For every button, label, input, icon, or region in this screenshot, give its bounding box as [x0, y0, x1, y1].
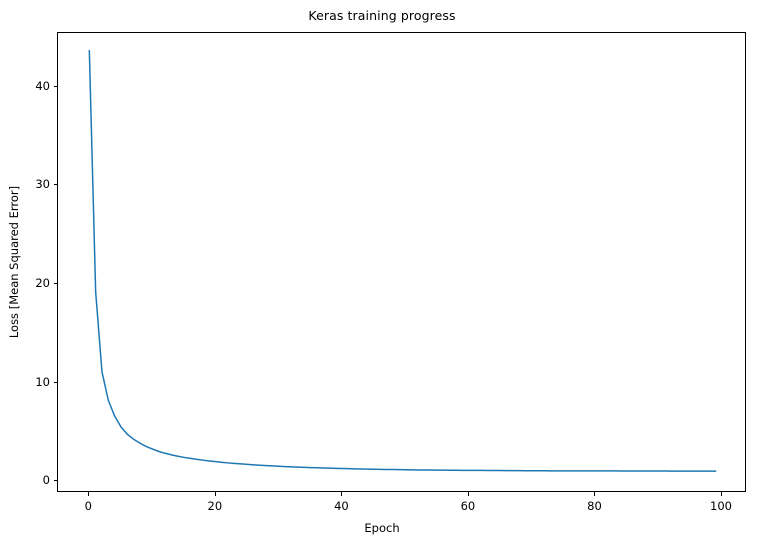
x-tick-label: 0 — [85, 499, 92, 513]
chart-title: Keras training progress — [0, 8, 764, 23]
x-tick-label: 60 — [461, 499, 476, 513]
y-tick-mark — [54, 184, 58, 185]
x-tick-mark — [215, 492, 216, 496]
plot-area — [57, 32, 746, 492]
x-tick-label: 80 — [587, 499, 602, 513]
x-tick-mark — [88, 492, 89, 496]
y-tick-mark — [54, 283, 58, 284]
x-tick-label: 100 — [710, 499, 732, 513]
loss-curve-svg — [58, 33, 747, 493]
x-tick-mark — [468, 492, 469, 496]
x-tick-mark — [721, 492, 722, 496]
x-tick-mark — [341, 492, 342, 496]
y-tick-mark — [54, 382, 58, 383]
x-tick-label: 40 — [334, 499, 349, 513]
loss-line-series — [89, 50, 715, 471]
x-tick-label: 20 — [208, 499, 223, 513]
chart-figure: Keras training progress 010203040 020406… — [0, 0, 764, 547]
y-tick-mark — [54, 480, 58, 481]
y-axis-label: Loss [Mean Squared Error] — [3, 32, 25, 492]
x-axis-label: Epoch — [0, 521, 764, 535]
y-tick-mark — [54, 86, 58, 87]
x-tick-mark — [594, 492, 595, 496]
